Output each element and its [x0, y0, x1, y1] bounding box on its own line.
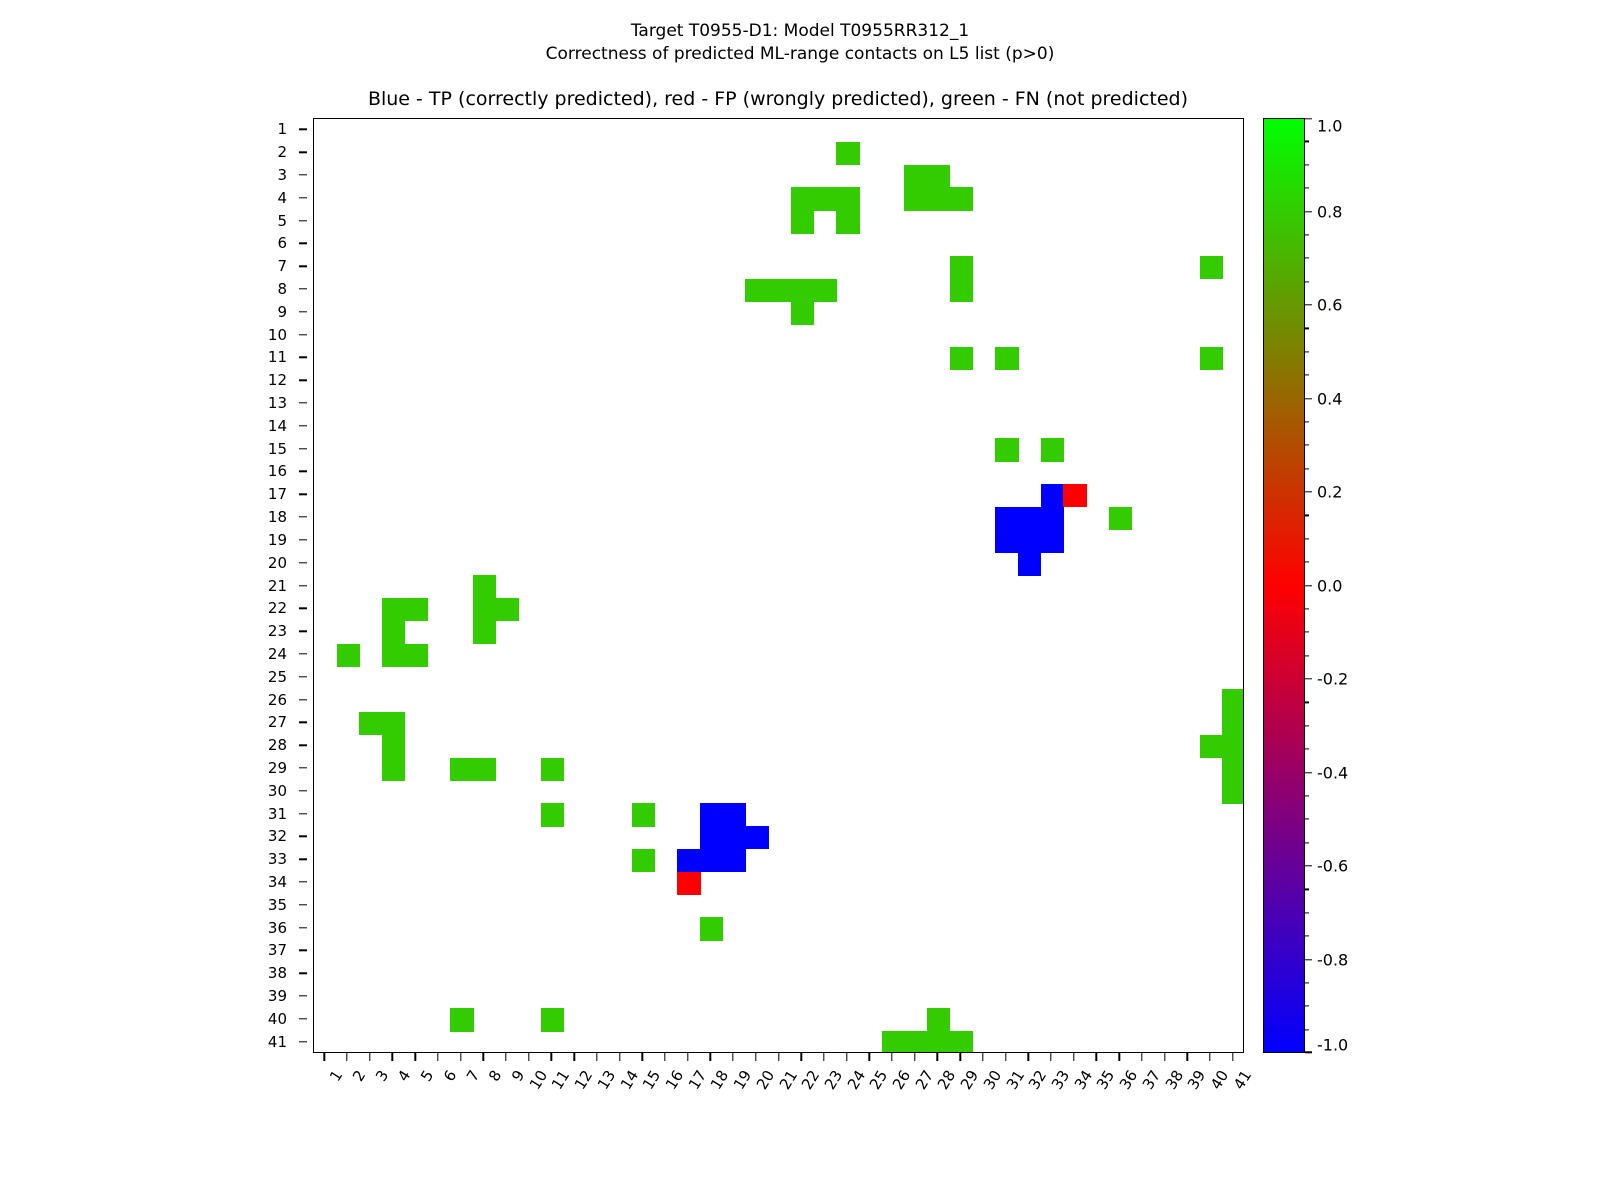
- y-tick-label: 15: [268, 440, 287, 458]
- colorbar-minor-tick: [1305, 141, 1309, 142]
- contact-cell-tp: [723, 826, 746, 849]
- x-tick-label: 32: [1025, 1067, 1050, 1093]
- colorbar-tick-label: -0.2: [1317, 670, 1348, 689]
- y-tick-mark: [299, 380, 307, 381]
- y-tick-label: 5: [277, 212, 287, 230]
- contact-cell-tp: [745, 826, 768, 849]
- x-tick-mark: [1209, 1053, 1210, 1061]
- colorbar-tick-mark: [1305, 491, 1312, 492]
- colorbar-minor-tick: [1305, 655, 1309, 656]
- contact-cell-fn: [836, 210, 859, 233]
- colorbar-minor-tick: [1305, 538, 1309, 539]
- colorbar-minor-tick: [1305, 725, 1309, 726]
- y-tick-mark: [299, 972, 307, 973]
- colorbar-minor-tick: [1305, 632, 1309, 633]
- contact-cell-fn: [904, 187, 927, 210]
- contact-cell-fn: [791, 301, 814, 324]
- colorbar-tick-label: 0.8: [1317, 202, 1342, 221]
- contact-cell-fn: [1222, 780, 1244, 803]
- x-axis: 1234567891011121314151617181920212223242…: [313, 1053, 1244, 1193]
- contact-cell-fn: [1222, 712, 1244, 735]
- contact-cell-fn: [541, 1008, 564, 1031]
- x-tick-label: 7: [463, 1067, 483, 1085]
- colorbar-minor-tick: [1305, 258, 1309, 259]
- y-tick-mark: [299, 676, 307, 677]
- contact-cell-fn: [450, 758, 473, 781]
- y-tick-mark: [299, 220, 307, 221]
- colorbar-minor-tick: [1305, 375, 1309, 376]
- contact-cell-fn: [1041, 438, 1064, 461]
- x-tick-mark: [414, 1053, 415, 1061]
- y-tick-label: 3: [277, 166, 287, 184]
- colorbar-minor-tick: [1305, 421, 1309, 422]
- x-tick-label: 10: [526, 1067, 551, 1093]
- y-tick-mark: [299, 494, 307, 495]
- y-tick-mark: [299, 790, 307, 791]
- y-tick-label: 36: [268, 919, 287, 937]
- y-tick-label: 2: [277, 143, 287, 161]
- x-tick-label: 29: [957, 1067, 982, 1093]
- x-tick-label: 3: [372, 1067, 392, 1085]
- colorbar-minor-tick: [1305, 562, 1309, 563]
- y-tick-label: 34: [268, 873, 287, 891]
- x-tick-label: 31: [1002, 1067, 1027, 1093]
- y-tick-mark: [299, 1041, 307, 1042]
- contact-cell-fn: [927, 1008, 950, 1031]
- contact-cell-fn: [950, 279, 973, 302]
- legend-annotation: Blue - TP (correctly predicted), red - F…: [313, 88, 1243, 110]
- y-tick-label: 13: [268, 394, 287, 412]
- colorbar-tick-mark: [1305, 118, 1312, 119]
- x-tick-mark: [732, 1053, 733, 1061]
- contact-cell-tp: [700, 803, 723, 826]
- contact-cell-fn: [541, 803, 564, 826]
- colorbar-tick-mark: [1305, 398, 1312, 399]
- y-tick-mark: [299, 881, 307, 882]
- x-tick-label: 2: [349, 1067, 369, 1085]
- colorbar-minor-tick: [1305, 445, 1309, 446]
- x-tick-mark: [460, 1053, 461, 1061]
- y-tick-label: 19: [268, 531, 287, 549]
- colorbar-tick-label: -0.8: [1317, 950, 1348, 969]
- contact-cell-tp: [1018, 552, 1041, 575]
- colorbar-minor-tick: [1305, 912, 1309, 913]
- x-tick-label: 27: [912, 1067, 937, 1093]
- y-tick-mark: [299, 471, 307, 472]
- y-tick-mark: [299, 904, 307, 905]
- contact-cell-fp: [1063, 484, 1086, 507]
- contact-cell-fp: [677, 872, 700, 895]
- x-tick-label: 28: [934, 1067, 959, 1093]
- x-tick-mark: [937, 1053, 938, 1061]
- x-tick-mark: [437, 1053, 438, 1061]
- colorbar-minor-tick: [1305, 749, 1309, 750]
- contact-cell-fn: [473, 621, 496, 644]
- x-tick-mark: [1028, 1053, 1029, 1061]
- y-tick-mark: [299, 562, 307, 563]
- x-tick-label: 23: [821, 1067, 846, 1093]
- y-tick-label: 25: [268, 668, 287, 686]
- contact-cell-fn: [791, 279, 814, 302]
- y-tick-mark: [299, 152, 307, 153]
- contact-cell-fn: [632, 803, 655, 826]
- x-tick-mark: [710, 1053, 711, 1061]
- contact-cell-tp: [1018, 507, 1041, 530]
- x-tick-label: 8: [485, 1067, 505, 1085]
- y-tick-label: 35: [268, 896, 287, 914]
- y-tick-label: 22: [268, 599, 287, 617]
- contact-cell-tp: [723, 803, 746, 826]
- y-tick-mark: [299, 1018, 307, 1019]
- colorbar-minor-tick: [1305, 468, 1309, 469]
- contact-cell-fn: [995, 347, 1018, 370]
- colorbar-tick-mark: [1305, 1052, 1312, 1053]
- x-tick-mark: [891, 1053, 892, 1061]
- colorbar-minor-tick: [1305, 608, 1309, 609]
- x-tick-mark: [619, 1053, 620, 1061]
- x-tick-mark: [392, 1053, 393, 1061]
- contact-cell-fn: [768, 279, 791, 302]
- x-tick-label: 1: [326, 1067, 346, 1085]
- y-tick-mark: [299, 585, 307, 586]
- colorbar-tick-label: 0.6: [1317, 296, 1342, 315]
- x-tick-label: 26: [889, 1067, 914, 1093]
- x-tick-label: 20: [753, 1067, 778, 1093]
- contact-cell-fn: [337, 644, 360, 667]
- x-tick-mark: [664, 1053, 665, 1061]
- x-tick-label: 30: [980, 1067, 1005, 1093]
- contact-cell-fn: [745, 279, 768, 302]
- y-tick-label: 26: [268, 691, 287, 709]
- contact-cell-tp: [677, 849, 700, 872]
- y-tick-label: 21: [268, 577, 287, 595]
- y-tick-label: 10: [268, 326, 287, 344]
- plot-area[interactable]: [313, 118, 1244, 1053]
- x-tick-mark: [982, 1053, 983, 1061]
- colorbar-minor-tick: [1305, 234, 1309, 235]
- y-tick-mark: [299, 858, 307, 859]
- contact-cell-fn: [1222, 689, 1244, 712]
- x-tick-label: 21: [775, 1067, 800, 1093]
- colorbar-tick-label: -0.4: [1317, 763, 1348, 782]
- contact-cell-tp: [700, 849, 723, 872]
- x-tick-mark: [1005, 1053, 1006, 1061]
- y-tick-mark: [299, 836, 307, 837]
- contact-cell-tp: [1018, 529, 1041, 552]
- x-tick-mark: [846, 1053, 847, 1061]
- x-tick-mark: [1118, 1053, 1119, 1061]
- y-tick-mark: [299, 288, 307, 289]
- contact-cell-fn: [405, 598, 428, 621]
- colorbar[interactable]: 1.00.80.60.40.20.0-0.2-0.4-0.6-0.8-1.0: [1263, 118, 1383, 1053]
- x-tick-mark: [573, 1053, 574, 1061]
- x-tick-mark: [869, 1053, 870, 1061]
- x-tick-label: 41: [1230, 1067, 1255, 1093]
- y-tick-label: 17: [268, 485, 287, 503]
- x-tick-mark: [914, 1053, 915, 1061]
- contact-cell-fn: [904, 165, 927, 188]
- y-tick-label: 32: [268, 827, 287, 845]
- contact-cell-fn: [359, 712, 382, 735]
- x-tick-mark: [1073, 1053, 1074, 1061]
- x-tick-mark: [1232, 1053, 1233, 1061]
- x-tick-label: 6: [440, 1067, 460, 1085]
- y-tick-mark: [299, 402, 307, 403]
- x-tick-label: 22: [798, 1067, 823, 1093]
- x-tick-label: 11: [548, 1067, 573, 1093]
- x-tick-mark: [1187, 1053, 1188, 1061]
- y-tick-label: 27: [268, 713, 287, 731]
- x-tick-label: 12: [571, 1067, 596, 1093]
- x-tick-mark: [642, 1053, 643, 1061]
- colorbar-tick-mark: [1305, 959, 1312, 960]
- y-tick-mark: [299, 357, 307, 358]
- colorbar-minor-tick: [1305, 1006, 1309, 1007]
- contact-cell-fn: [791, 187, 814, 210]
- colorbar-minor-tick: [1305, 328, 1309, 329]
- title-line-1: Target T0955-D1: Model T0955RR312_1: [0, 20, 1600, 43]
- x-tick-mark: [959, 1053, 960, 1061]
- colorbar-tick-label: 0.4: [1317, 389, 1342, 408]
- x-tick-mark: [801, 1053, 802, 1061]
- contact-cell-fn: [950, 1031, 973, 1053]
- x-tick-mark: [1050, 1053, 1051, 1061]
- x-tick-label: 14: [616, 1067, 641, 1093]
- contact-cell-fn: [1200, 735, 1223, 758]
- contact-cell-tp: [723, 849, 746, 872]
- y-tick-label: 6: [277, 234, 287, 252]
- y-tick-mark: [299, 448, 307, 449]
- y-tick-label: 31: [268, 805, 287, 823]
- contact-cell-fn: [836, 187, 859, 210]
- y-tick-label: 30: [268, 782, 287, 800]
- x-tick-mark: [596, 1053, 597, 1061]
- x-tick-mark: [551, 1053, 552, 1061]
- x-tick-mark: [1096, 1053, 1097, 1061]
- x-tick-label: 4: [394, 1067, 414, 1085]
- colorbar-minor-tick: [1305, 842, 1309, 843]
- colorbar-tick-label: 0.0: [1317, 576, 1342, 595]
- y-tick-label: 37: [268, 941, 287, 959]
- y-tick-label: 28: [268, 736, 287, 754]
- colorbar-minor-tick: [1305, 702, 1309, 703]
- contact-cell-fn: [814, 279, 837, 302]
- contact-cell-fn: [1222, 758, 1244, 781]
- contact-cell-fn: [882, 1031, 905, 1053]
- x-tick-mark: [755, 1053, 756, 1061]
- contact-cell-fn: [473, 598, 496, 621]
- colorbar-tick-label: 0.2: [1317, 483, 1342, 502]
- colorbar-tick-label: -0.6: [1317, 857, 1348, 876]
- y-tick-label: 41: [268, 1033, 287, 1051]
- y-tick-label: 14: [268, 417, 287, 435]
- y-axis: 1234567891011121314151617181920212223242…: [0, 118, 313, 1053]
- y-tick-mark: [299, 630, 307, 631]
- y-tick-label: 7: [277, 257, 287, 275]
- contact-cell-fn: [382, 598, 405, 621]
- contact-cell-tp: [1041, 484, 1064, 507]
- y-tick-label: 29: [268, 759, 287, 777]
- contact-cell-tp: [700, 826, 723, 849]
- y-tick-mark: [299, 744, 307, 745]
- contact-cell-fn: [541, 758, 564, 781]
- y-tick-label: 11: [268, 348, 287, 366]
- y-tick-mark: [299, 995, 307, 996]
- contact-map-figure: Target T0955-D1: Model T0955RR312_1 Corr…: [0, 0, 1600, 1200]
- colorbar-minor-tick: [1305, 1029, 1309, 1030]
- y-tick-label: 38: [268, 964, 287, 982]
- x-tick-label: 39: [1184, 1067, 1209, 1093]
- contact-cell-fn: [382, 735, 405, 758]
- y-tick-label: 23: [268, 622, 287, 640]
- y-tick-mark: [299, 950, 307, 951]
- colorbar-minor-tick: [1305, 351, 1309, 352]
- colorbar-tick-mark: [1305, 772, 1312, 773]
- x-tick-label: 40: [1207, 1067, 1232, 1093]
- y-tick-mark: [299, 539, 307, 540]
- contact-cell-fn: [950, 347, 973, 370]
- y-tick-label: 16: [268, 462, 287, 480]
- y-tick-label: 33: [268, 850, 287, 868]
- contact-cell-fn: [405, 644, 428, 667]
- x-tick-label: 19: [730, 1067, 755, 1093]
- colorbar-minor-tick: [1305, 982, 1309, 983]
- x-tick-label: 35: [1093, 1067, 1118, 1093]
- contact-cell-fn: [791, 210, 814, 233]
- title-line-2: Correctness of predicted ML-range contac…: [0, 43, 1600, 66]
- x-tick-mark: [1141, 1053, 1142, 1061]
- colorbar-minor-tick: [1305, 795, 1309, 796]
- contact-cell-fn: [814, 187, 837, 210]
- x-tick-mark: [369, 1053, 370, 1061]
- contact-cell-fn: [496, 598, 519, 621]
- x-tick-label: 25: [866, 1067, 891, 1093]
- x-tick-mark: [823, 1053, 824, 1061]
- colorbar-tick-mark: [1305, 304, 1312, 305]
- y-tick-mark: [299, 174, 307, 175]
- x-tick-label: 17: [685, 1067, 710, 1093]
- y-tick-label: 39: [268, 987, 287, 1005]
- contact-cell-fn: [927, 165, 950, 188]
- contact-cell-fn: [382, 712, 405, 735]
- y-tick-label: 20: [268, 554, 287, 572]
- x-tick-label: 37: [1139, 1067, 1164, 1093]
- x-tick-label: 13: [594, 1067, 619, 1093]
- y-tick-mark: [299, 243, 307, 244]
- colorbar-minor-tick: [1305, 164, 1309, 165]
- y-tick-label: 24: [268, 645, 287, 663]
- contact-cell-fn: [473, 758, 496, 781]
- y-tick-mark: [299, 129, 307, 130]
- y-tick-mark: [299, 653, 307, 654]
- contact-cell-fn: [995, 438, 1018, 461]
- y-tick-label: 18: [268, 508, 287, 526]
- x-tick-mark: [1164, 1053, 1165, 1061]
- x-tick-label: 38: [1161, 1067, 1186, 1093]
- y-tick-mark: [299, 425, 307, 426]
- contact-cell-fn: [700, 917, 723, 940]
- contact-cell-tp: [995, 507, 1018, 530]
- contact-cell-fn: [950, 256, 973, 279]
- contact-cell-fn: [836, 142, 859, 165]
- colorbar-minor-tick: [1305, 515, 1309, 516]
- contact-cell-fn: [927, 1031, 950, 1053]
- y-tick-mark: [299, 266, 307, 267]
- colorbar-minor-tick: [1305, 889, 1309, 890]
- contact-cell-fn: [632, 849, 655, 872]
- y-tick-mark: [299, 813, 307, 814]
- contact-cell-fn: [382, 758, 405, 781]
- y-tick-label: 1: [277, 120, 287, 138]
- x-tick-label: 16: [662, 1067, 687, 1093]
- contact-cell-fn: [927, 187, 950, 210]
- x-tick-mark: [778, 1053, 779, 1061]
- contact-cell-tp: [1041, 529, 1064, 552]
- y-tick-mark: [299, 608, 307, 609]
- x-tick-mark: [346, 1053, 347, 1061]
- colorbar-tick-mark: [1305, 211, 1312, 212]
- y-tick-mark: [299, 516, 307, 517]
- x-tick-mark: [687, 1053, 688, 1061]
- contact-cell-fn: [1200, 256, 1223, 279]
- colorbar-tick-mark: [1305, 585, 1312, 586]
- y-tick-mark: [299, 197, 307, 198]
- y-tick-mark: [299, 311, 307, 312]
- figure-title: Target T0955-D1: Model T0955RR312_1 Corr…: [0, 20, 1600, 66]
- x-tick-label: 18: [707, 1067, 732, 1093]
- x-tick-mark: [324, 1053, 325, 1061]
- y-tick-label: 8: [277, 280, 287, 298]
- colorbar-tick-label: -1.0: [1317, 1036, 1348, 1055]
- x-tick-label: 33: [1048, 1067, 1073, 1093]
- y-tick-label: 40: [268, 1010, 287, 1028]
- colorbar-minor-tick: [1305, 188, 1309, 189]
- x-tick-mark: [483, 1053, 484, 1061]
- colorbar-tick-mark: [1305, 865, 1312, 866]
- colorbar-gradient: [1263, 118, 1305, 1053]
- contact-cell-fn: [450, 1008, 473, 1031]
- x-tick-label: 36: [1116, 1067, 1141, 1093]
- colorbar-tick-mark: [1305, 678, 1312, 679]
- contact-cell-tp: [1041, 507, 1064, 530]
- contact-cell-fn: [950, 187, 973, 210]
- y-tick-mark: [299, 699, 307, 700]
- y-tick-mark: [299, 767, 307, 768]
- x-tick-mark: [528, 1053, 529, 1061]
- contact-cell-fn: [1200, 347, 1223, 370]
- y-tick-label: 9: [277, 303, 287, 321]
- contact-cell-fn: [382, 621, 405, 644]
- x-tick-label: 24: [843, 1067, 868, 1093]
- contact-cell-tp: [995, 529, 1018, 552]
- y-tick-mark: [299, 334, 307, 335]
- x-tick-mark: [505, 1053, 506, 1061]
- x-tick-label: 34: [1071, 1067, 1096, 1093]
- contact-cell-fn: [904, 1031, 927, 1053]
- y-tick-mark: [299, 927, 307, 928]
- y-tick-mark: [299, 722, 307, 723]
- colorbar-minor-tick: [1305, 936, 1309, 937]
- contact-cell-fn: [473, 575, 496, 598]
- colorbar-minor-tick: [1305, 819, 1309, 820]
- x-tick-label: 5: [417, 1067, 437, 1085]
- x-tick-label: 15: [639, 1067, 664, 1093]
- y-tick-label: 12: [268, 371, 287, 389]
- colorbar-tick-label: 1.0: [1317, 117, 1342, 136]
- colorbar-minor-tick: [1305, 281, 1309, 282]
- contact-cell-fn: [1222, 735, 1244, 758]
- contact-cell-fn: [1109, 507, 1132, 530]
